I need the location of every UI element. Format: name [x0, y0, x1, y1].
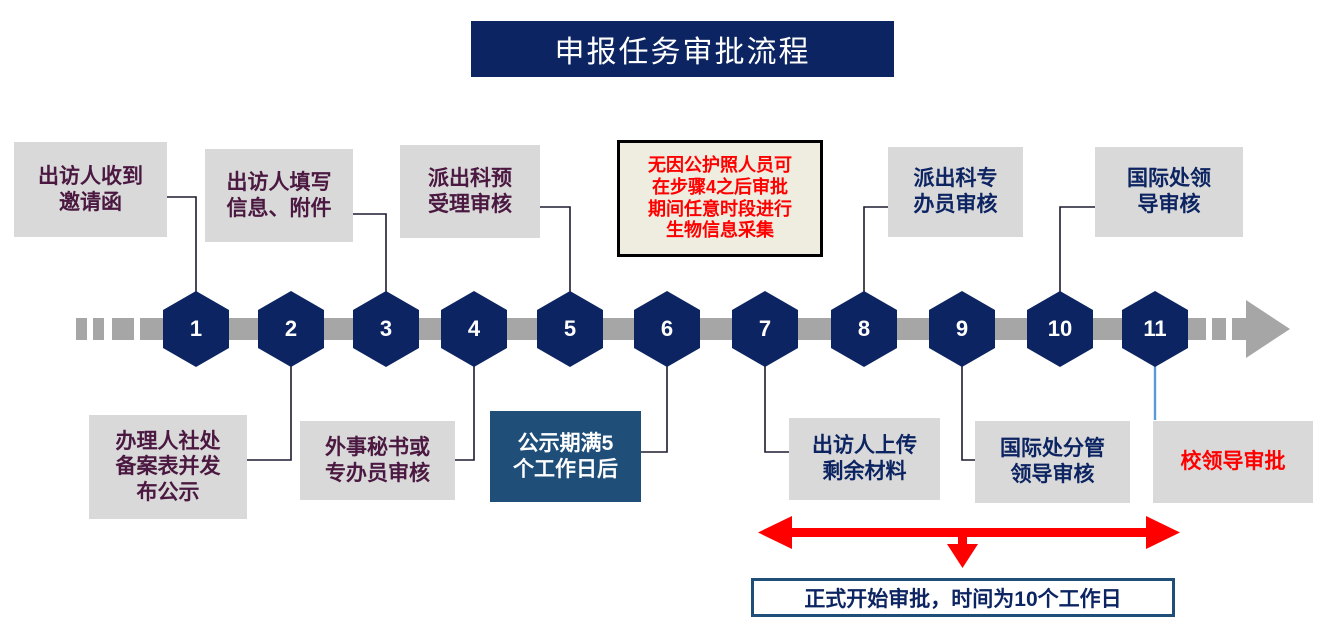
- approval-duration-caption: 正式开始审批，时间为10个工作日: [751, 578, 1175, 617]
- step-label-5-line-1: 派出科预: [428, 166, 512, 192]
- step-label-9-line-2: 领导审核: [1011, 462, 1095, 488]
- timeline-node-11-number: 11: [1143, 316, 1166, 342]
- step-label-11: 校领导审批: [1153, 421, 1313, 503]
- passport-note-callout: 无因公护照人员可 在步骤4之后审批 期间任意时段进行 生物信息采集: [617, 140, 823, 257]
- step-label-1: 出访人收到 邀请函: [14, 142, 167, 237]
- step-label-11-line-1: 校领导审批: [1181, 449, 1286, 475]
- step-label-10: 国际处领 导审核: [1095, 147, 1243, 237]
- step-label-6-line-2: 个工作日后: [513, 457, 618, 483]
- step-label-9: 国际处分管 领导审核: [975, 421, 1130, 503]
- step-label-3: 出访人填写 信息、附件: [205, 149, 353, 242]
- track-dashes-left: [76, 318, 174, 340]
- step-label-3-line-1: 出访人填写: [227, 170, 332, 196]
- step-label-6: 公示期满5 个工作日后: [490, 411, 641, 502]
- step-label-4-line-2: 专办员审核: [325, 461, 430, 487]
- step-label-5: 派出科预 受理审核: [400, 145, 540, 238]
- timeline-node-3-number: 3: [380, 316, 392, 342]
- passport-note-line-4: 生物信息采集: [666, 220, 774, 242]
- timeline-node-10-number: 10: [1048, 316, 1072, 342]
- step-label-1-line-1: 出访人收到: [38, 164, 143, 190]
- flowchart-canvas: 申报任务审批流程 出访人收到 邀请函 出访人填写 信息、附件 派出科预 受理审核…: [0, 0, 1337, 627]
- step-label-2-line-1: 办理人社处: [116, 429, 221, 455]
- timeline-node-6-number: 6: [661, 316, 673, 342]
- timeline-node-2-number: 2: [285, 316, 297, 342]
- timeline-node-5-number: 5: [564, 316, 576, 342]
- red-span-arrow: [758, 516, 1180, 568]
- step-label-10-line-2: 导审核: [1138, 192, 1201, 218]
- step-label-2-line-2: 备案表并发: [116, 454, 221, 480]
- step-label-6-line-1: 公示期满5: [518, 431, 614, 457]
- step-label-1-line-2: 邀请函: [59, 190, 122, 216]
- step-label-9-line-1: 国际处分管: [1000, 436, 1105, 462]
- passport-note-line-2: 在步骤4之后审批: [652, 177, 788, 199]
- step-label-5-line-2: 受理审核: [428, 192, 512, 218]
- passport-note-line-1: 无因公护照人员可: [648, 155, 792, 177]
- step-label-2-line-3: 布公示: [137, 480, 200, 506]
- step-label-8-line-2: 办员审核: [914, 192, 998, 218]
- timeline-node-9-number: 9: [956, 316, 968, 342]
- page-title: 申报任务审批流程: [471, 21, 894, 77]
- track-dashes-right: [1180, 318, 1246, 340]
- step-label-7-line-1: 出访人上传: [812, 433, 917, 459]
- timeline-arrowhead: [1246, 300, 1290, 358]
- step-label-4-line-1: 外事秘书或: [325, 435, 430, 461]
- timeline-node-4-number: 4: [468, 316, 480, 342]
- step-label-4: 外事秘书或 专办员审核: [300, 421, 455, 500]
- timeline-node-1-number: 1: [190, 316, 202, 342]
- passport-note-line-3: 期间任意时段进行: [648, 199, 792, 221]
- step-label-8: 派出科专 办员审核: [888, 147, 1023, 237]
- step-label-7: 出访人上传 剩余材料: [789, 418, 940, 500]
- step-label-7-line-2: 剩余材料: [823, 459, 907, 485]
- step-label-10-line-1: 国际处领: [1127, 166, 1211, 192]
- timeline-node-7-number: 7: [759, 316, 771, 342]
- step-label-3-line-2: 信息、附件: [227, 196, 332, 222]
- timeline-node-8-number: 8: [858, 316, 870, 342]
- step-label-8-line-1: 派出科专: [914, 166, 998, 192]
- step-label-2: 办理人社处 备案表并发 布公示: [89, 415, 247, 519]
